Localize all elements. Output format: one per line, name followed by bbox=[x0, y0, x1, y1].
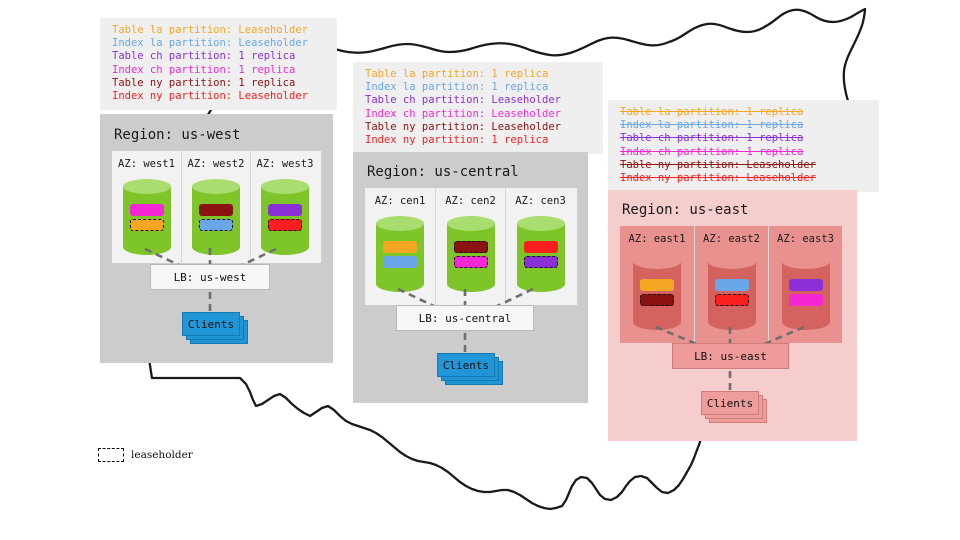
partition-bar-index_ch bbox=[130, 204, 164, 216]
clients-stack-us-east: Clients bbox=[701, 391, 771, 425]
partition-bars bbox=[708, 279, 756, 306]
region-us-central[interactable]: Region: us-central AZ: cen1AZ: cen2AZ: c… bbox=[353, 152, 588, 403]
partition-bars bbox=[123, 204, 171, 231]
legend-line: Table ny partition: Leaseholder bbox=[620, 159, 869, 172]
partition-bar-table_la bbox=[383, 241, 417, 253]
legend-line: Index ch partition: Leaseholder bbox=[365, 108, 593, 121]
legend-line: Table la partition: Leaseholder bbox=[112, 24, 327, 37]
clients-us-west[interactable]: Clients bbox=[182, 312, 240, 336]
legend-line: Index ny partition: Leaseholder bbox=[112, 90, 327, 103]
legend-line: Index la partition: Leaseholder bbox=[112, 37, 327, 50]
partition-bars bbox=[782, 279, 830, 306]
legend-us-west: Table la partition: LeaseholderIndex la … bbox=[100, 18, 337, 110]
legend-line: Index ch partition: 1 replica bbox=[112, 64, 327, 77]
partition-bar-table_ch-leaseholder bbox=[524, 256, 558, 268]
lb-us-west[interactable]: LB: us-west bbox=[150, 264, 270, 290]
partition-bar-table_ny-leaseholder bbox=[640, 294, 674, 306]
legend-line: Table ch partition: Leaseholder bbox=[365, 94, 593, 107]
leaseholder-key: leaseholder bbox=[98, 448, 193, 462]
clients-stack-us-central: Clients bbox=[437, 353, 507, 387]
clients-us-central[interactable]: Clients bbox=[437, 353, 495, 377]
clients-us-east[interactable]: Clients bbox=[701, 391, 759, 415]
leaseholder-key-label: leaseholder bbox=[131, 449, 193, 461]
legend-line: Table ch partition: 1 replica bbox=[620, 132, 869, 145]
legend-line: Index la partition: 1 replica bbox=[620, 119, 869, 132]
partition-bar-table_ch bbox=[268, 204, 302, 216]
partition-bar-table_la-leaseholder bbox=[130, 219, 164, 231]
partition-bar-index_ny bbox=[524, 241, 558, 253]
partition-bar-index_la-leaseholder bbox=[199, 219, 233, 231]
region-us-east[interactable]: Region: us-east AZ: east1AZ: east2AZ: ea… bbox=[608, 190, 857, 441]
lb-us-east[interactable]: LB: us-east bbox=[672, 343, 789, 369]
legend-line: Table la partition: 1 replica bbox=[365, 68, 593, 81]
partition-bar-index_ny-leaseholder bbox=[268, 219, 302, 231]
legend-line: Table ny partition: Leaseholder bbox=[365, 121, 593, 134]
partition-bars bbox=[633, 279, 681, 306]
dashed-rectangle-icon bbox=[98, 448, 124, 462]
legend-line: Table ny partition: 1 replica bbox=[112, 77, 327, 90]
legend-line: Index ny partition: Leaseholder bbox=[620, 172, 869, 185]
partition-bars bbox=[517, 241, 565, 268]
partition-bars bbox=[192, 204, 240, 231]
partition-bar-index_ch bbox=[789, 294, 823, 306]
partition-bars bbox=[447, 241, 495, 268]
partition-bars bbox=[261, 204, 309, 231]
partition-bar-index_ny-leaseholder bbox=[715, 294, 749, 306]
partition-bar-index_la bbox=[383, 256, 417, 268]
legend-us-central: Table la partition: 1 replicaIndex la pa… bbox=[353, 62, 603, 154]
lb-us-central[interactable]: LB: us-central bbox=[396, 305, 534, 331]
partition-bar-table_ny bbox=[199, 204, 233, 216]
legend-line: Index la partition: 1 replica bbox=[365, 81, 593, 94]
legend-line: Index ch partition: 1 replica bbox=[620, 146, 869, 159]
legend-line: Table la partition: 1 replica bbox=[620, 106, 869, 119]
partition-bar-table_ch bbox=[789, 279, 823, 291]
clients-stack-us-west: Clients bbox=[182, 312, 252, 346]
partition-bar-index_la bbox=[715, 279, 749, 291]
legend-line: Index ny partition: 1 replica bbox=[365, 134, 593, 147]
partition-bars bbox=[376, 241, 424, 268]
partition-bar-table_ny-leaseholder bbox=[454, 241, 488, 253]
partition-bar-table_la bbox=[640, 279, 674, 291]
legend-us-east: Table la partition: 1 replicaIndex la pa… bbox=[608, 100, 879, 192]
region-us-west[interactable]: Region: us-west AZ: west1AZ: west2AZ: we… bbox=[100, 114, 333, 363]
partition-bar-index_ch-leaseholder bbox=[454, 256, 488, 268]
legend-line: Table ch partition: 1 replica bbox=[112, 50, 327, 63]
